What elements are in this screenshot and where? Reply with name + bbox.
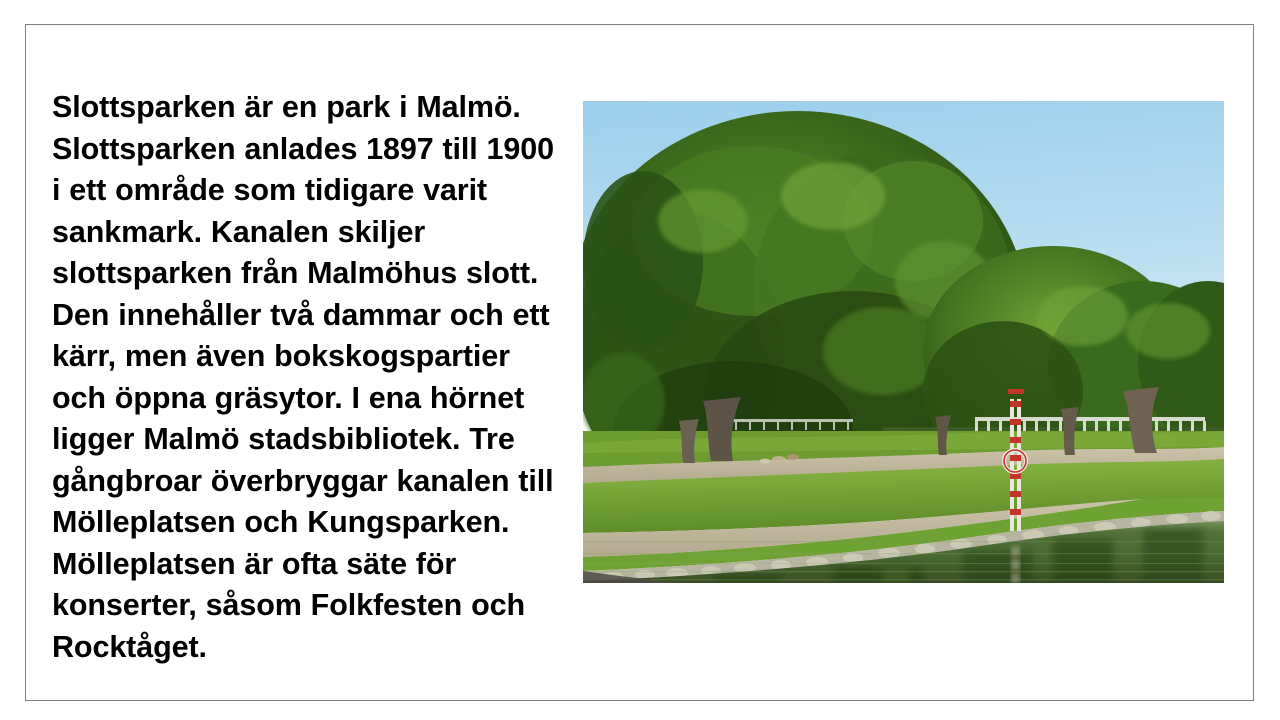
slide-body-text: Slottsparken är en park i Malmö. Slottsp…	[52, 87, 562, 668]
slide-canvas: Slottsparken är en park i Malmö. Slottsp…	[25, 24, 1254, 701]
photo-life-ring-post-reflection	[1011, 547, 1020, 583]
slottsparken-park-pond-photo	[583, 101, 1224, 583]
slottsparken-photo	[583, 101, 1224, 583]
